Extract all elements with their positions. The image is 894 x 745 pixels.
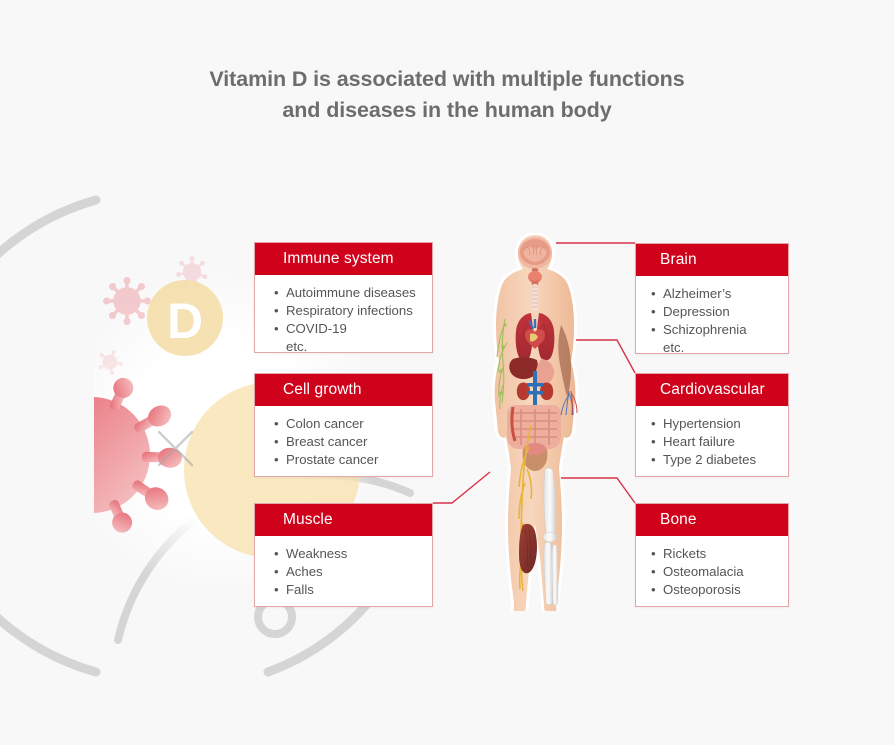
trachea-organ bbox=[532, 284, 538, 311]
intestines-organ bbox=[507, 405, 561, 449]
list-item: Weakness bbox=[273, 545, 432, 563]
connector-muscle bbox=[433, 472, 490, 503]
list-item: Aches bbox=[273, 563, 432, 581]
infographic-canvas: Vitamin D is associated with multiple fu… bbox=[0, 0, 894, 745]
list-item: Respiratory infections bbox=[273, 302, 432, 320]
multiply-icon bbox=[159, 432, 192, 465]
info-box-immune-system[interactable]: Immune system Autoimmune diseases Respir… bbox=[254, 242, 433, 353]
list-item: Colon cancer bbox=[273, 415, 432, 433]
list-item: Prostate cancer bbox=[273, 451, 432, 469]
page-title-line-2: and diseases in the human body bbox=[0, 95, 894, 126]
list-item: Autoimmune diseases bbox=[273, 284, 432, 302]
info-box-bone[interactable]: Bone Rickets Osteomalacia Osteoporosis bbox=[635, 503, 789, 607]
list-item: Type 2 diabetes bbox=[650, 451, 788, 469]
coronavirus-icon-small bbox=[103, 277, 151, 325]
info-box-header: Cardiovascular bbox=[636, 374, 788, 406]
coronavirus-icon-small bbox=[98, 349, 123, 375]
info-box-body: Hypertension Heart failure Type 2 diabet… bbox=[636, 406, 788, 479]
info-box-body: Rickets Osteomalacia Osteoporosis bbox=[636, 536, 788, 609]
vitamin-d-badge: D bbox=[147, 280, 223, 356]
list-item: Osteomalacia bbox=[650, 563, 788, 581]
list-item: Rickets bbox=[650, 545, 788, 563]
list-item: COVID-19 bbox=[273, 320, 432, 338]
page-title: Vitamin D is associated with multiple fu… bbox=[0, 64, 894, 126]
info-box-muscle[interactable]: Muscle Weakness Aches Falls bbox=[254, 503, 433, 607]
human-body-anatomy-illustration bbox=[483, 233, 587, 611]
info-box-body: Weakness Aches Falls bbox=[255, 536, 432, 609]
list-item: Schizophrenia bbox=[650, 321, 788, 339]
info-box-header: Cell growth bbox=[255, 374, 432, 406]
info-box-cardiovascular[interactable]: Cardiovascular Hypertension Heart failur… bbox=[635, 373, 789, 477]
list-item: Hypertension bbox=[650, 415, 788, 433]
list-item: Breast cancer bbox=[273, 433, 432, 451]
coronavirus-icon-small bbox=[176, 256, 208, 288]
list-item: Heart failure bbox=[650, 433, 788, 451]
coronavirus-icon-large bbox=[34, 374, 182, 537]
info-box-brain[interactable]: Brain Alzheimer’s Depression Schizophren… bbox=[635, 243, 789, 354]
list-item: Osteoporosis bbox=[650, 581, 788, 599]
info-box-header: Immune system bbox=[255, 243, 432, 275]
leg-muscle-organ bbox=[519, 524, 537, 573]
info-box-header: Muscle bbox=[255, 504, 432, 536]
info-box-cell-growth[interactable]: Cell growth Colon cancer Breast cancer P… bbox=[254, 373, 433, 477]
info-box-body: Autoimmune diseases Respiratory infectio… bbox=[255, 275, 432, 366]
list-item: Depression bbox=[650, 303, 788, 321]
info-box-body: Alzheimer’s Depression Schizophrenia etc… bbox=[636, 276, 788, 367]
info-box-header: Brain bbox=[636, 244, 788, 276]
list-item: Falls bbox=[273, 581, 432, 599]
list-item: etc. bbox=[650, 339, 788, 357]
vitamin-d-letter: D bbox=[167, 293, 203, 349]
list-item: etc. bbox=[273, 338, 432, 356]
list-item: Alzheimer’s bbox=[650, 285, 788, 303]
page-title-line-1: Vitamin D is associated with multiple fu… bbox=[0, 64, 894, 95]
info-box-header: Bone bbox=[636, 504, 788, 536]
info-box-body: Colon cancer Breast cancer Prostate canc… bbox=[255, 406, 432, 479]
